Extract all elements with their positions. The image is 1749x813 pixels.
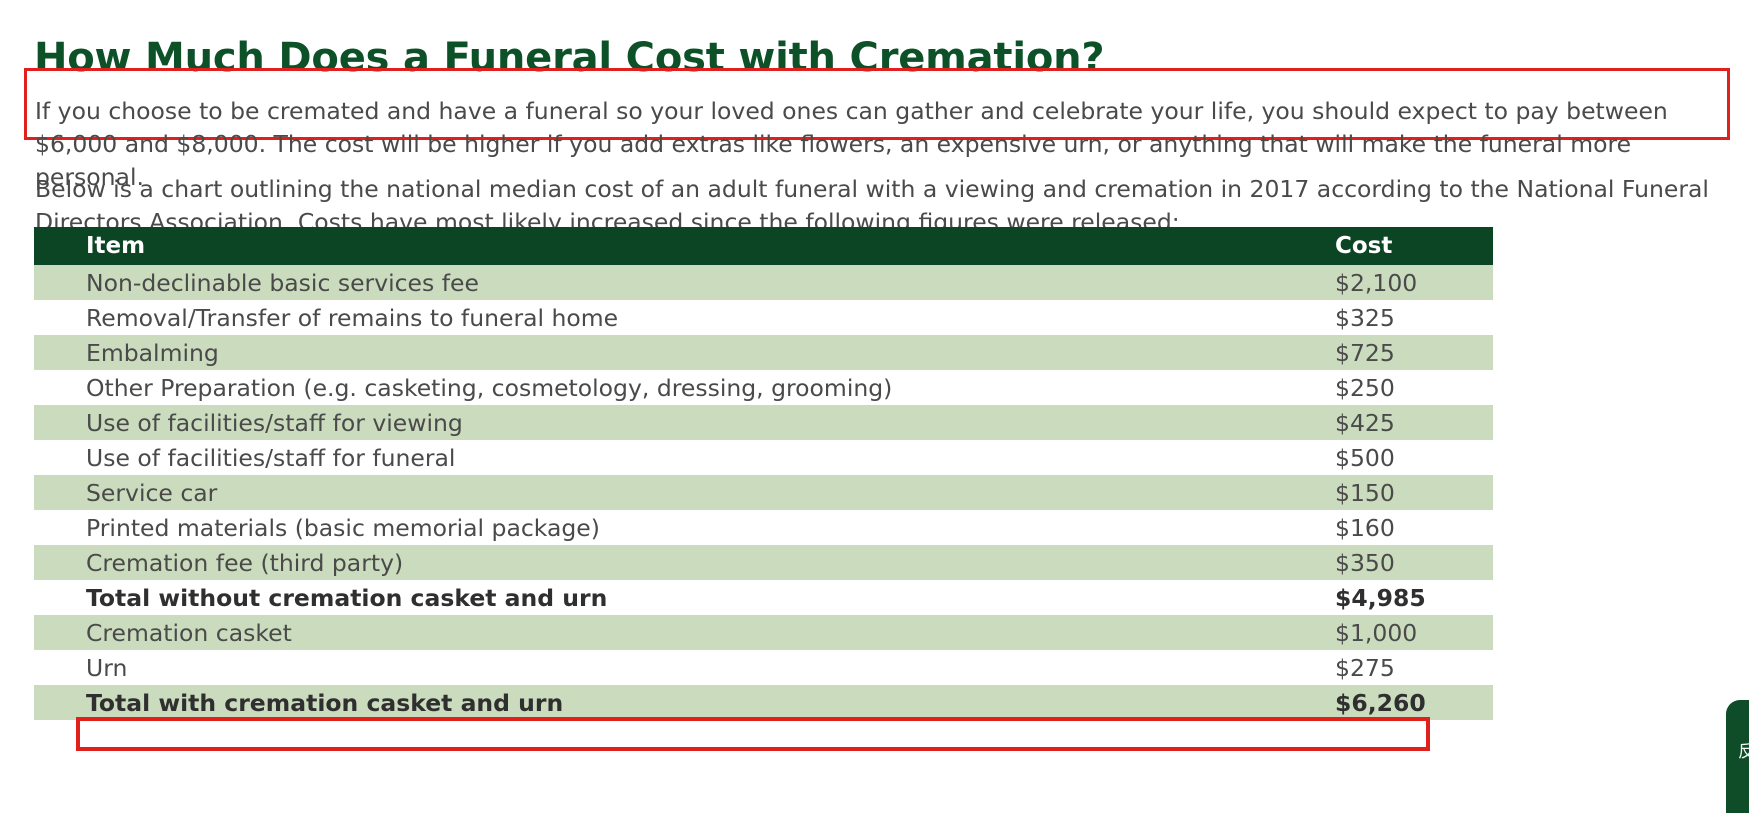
funeral-cost-table: Item Cost Non-declinable basic services …: [34, 227, 1493, 720]
table-cell-item: Service car: [34, 475, 1335, 510]
table-row: Cremation casket$1,000: [34, 615, 1493, 650]
table-row: Embalming$725: [34, 335, 1493, 370]
table-row: Total without cremation casket and urn$4…: [34, 580, 1493, 615]
table-row: Other Preparation (e.g. casketing, cosme…: [34, 370, 1493, 405]
table-cell-item: Non-declinable basic services fee: [34, 265, 1335, 300]
table-cell-cost: $1,000: [1335, 615, 1493, 650]
table-cell-item: Total with cremation casket and urn: [34, 685, 1335, 720]
table-cell-cost: $425: [1335, 405, 1493, 440]
table-row: Use of facilities/staff for viewing$425: [34, 405, 1493, 440]
table-cell-cost: $350: [1335, 545, 1493, 580]
watermark-text: 风闻社区@兔家某: [1310, 751, 1630, 795]
table-row: Cremation fee (third party)$350: [34, 545, 1493, 580]
table-row: Removal/Transfer of remains to funeral h…: [34, 300, 1493, 335]
table-cell-item: Urn: [34, 650, 1335, 685]
table-row: Use of facilities/staff for funeral$500: [34, 440, 1493, 475]
table-cell-cost: $250: [1335, 370, 1493, 405]
table-cell-item: Cremation fee (third party): [34, 545, 1335, 580]
table-row: Urn$275: [34, 650, 1493, 685]
red-highlight-urn-row-box: [76, 717, 1430, 751]
table-row: Non-declinable basic services fee$2,100: [34, 265, 1493, 300]
table-cell-item: Cremation casket: [34, 615, 1335, 650]
table-cell-cost: $275: [1335, 650, 1493, 685]
table-cell-cost: $160: [1335, 510, 1493, 545]
table-cell-cost: $325: [1335, 300, 1493, 335]
table-cell-item: Embalming: [34, 335, 1335, 370]
table-cell-item: Use of facilities/staff for funeral: [34, 440, 1335, 475]
table-cell-cost: $150: [1335, 475, 1493, 510]
table-cell-item: Removal/Transfer of remains to funeral h…: [34, 300, 1335, 335]
table-cell-cost: $6,260: [1335, 685, 1493, 720]
table-cell-cost: $4,985: [1335, 580, 1493, 615]
table-header: Item Cost: [34, 227, 1493, 265]
table-cell-cost: $500: [1335, 440, 1493, 475]
side-tab-button[interactable]: 反: [1726, 700, 1749, 813]
table-row: Total with cremation casket and urn$6,26…: [34, 685, 1493, 720]
side-tab-glyph: 反: [1728, 742, 1749, 759]
table-body: Non-declinable basic services fee$2,100R…: [34, 265, 1493, 720]
table-row: Service car$150: [34, 475, 1493, 510]
table-cell-cost: $725: [1335, 335, 1493, 370]
table-cell-item: Printed materials (basic memorial packag…: [34, 510, 1335, 545]
column-header-item: Item: [34, 227, 1335, 265]
table-cell-item: Total without cremation casket and urn: [34, 580, 1335, 615]
page-root: How Much Does a Funeral Cost with Cremat…: [0, 0, 1749, 813]
column-header-cost: Cost: [1335, 227, 1493, 265]
table-cell-item: Other Preparation (e.g. casketing, cosme…: [34, 370, 1335, 405]
table-row: Printed materials (basic memorial packag…: [34, 510, 1493, 545]
table-header-row: Item Cost: [34, 227, 1493, 265]
table-cell-cost: $2,100: [1335, 265, 1493, 300]
table-cell-item: Use of facilities/staff for viewing: [34, 405, 1335, 440]
